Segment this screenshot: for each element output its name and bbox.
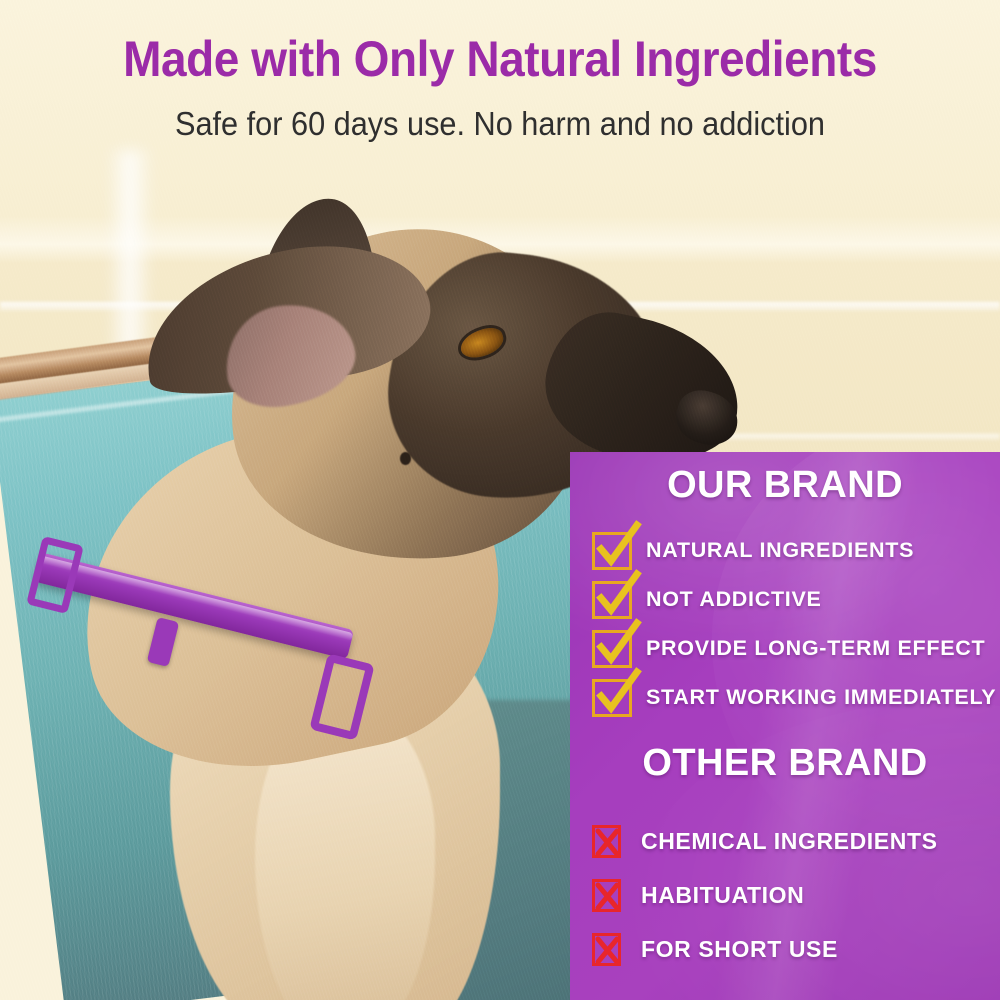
- x-box-icon: [592, 933, 621, 966]
- list-item-label: START WORKING IMMEDIATELY: [646, 685, 996, 710]
- check-box-icon: [592, 679, 632, 717]
- subheadline: Safe for 60 days use. No harm and no add…: [35, 105, 965, 143]
- our-brand-title: OUR BRAND: [570, 464, 1000, 507]
- comparison-panel: OUR BRAND NATURAL INGREDIENTS NOT ADDICT…: [570, 452, 1000, 1000]
- list-item-label: HABITUATION: [641, 882, 804, 909]
- headline: Made with Only Natural Ingredients: [40, 30, 960, 88]
- list-item: FOR SHORT USE: [570, 922, 1000, 976]
- list-item: NOT ADDICTIVE: [570, 575, 1000, 624]
- x-box-icon: [592, 825, 621, 858]
- list-item-label: CHEMICAL INGREDIENTS: [641, 828, 938, 855]
- check-box-icon: [592, 532, 632, 570]
- list-item-label: FOR SHORT USE: [641, 936, 838, 963]
- other-brand-list: CHEMICAL INGREDIENTS HABITUATION FOR SHO…: [570, 814, 1000, 976]
- list-item: CHEMICAL INGREDIENTS: [570, 814, 1000, 868]
- check-box-icon: [592, 630, 632, 668]
- list-item: PROVIDE LONG-TERM EFFECT: [570, 624, 1000, 673]
- product-marketing-image: Made with Only Natural Ingredients Safe …: [0, 0, 1000, 1000]
- list-item: NATURAL INGREDIENTS: [570, 526, 1000, 575]
- our-brand-list: NATURAL INGREDIENTS NOT ADDICTIVE PROVID…: [570, 526, 1000, 722]
- list-item-label: NATURAL INGREDIENTS: [646, 538, 914, 563]
- other-brand-title: OTHER BRAND: [570, 742, 1000, 785]
- check-box-icon: [592, 581, 632, 619]
- x-box-icon: [592, 879, 621, 912]
- list-item-label: PROVIDE LONG-TERM EFFECT: [646, 636, 985, 661]
- list-item-label: NOT ADDICTIVE: [646, 587, 822, 612]
- list-item: HABITUATION: [570, 868, 1000, 922]
- list-item: START WORKING IMMEDIATELY: [570, 673, 1000, 722]
